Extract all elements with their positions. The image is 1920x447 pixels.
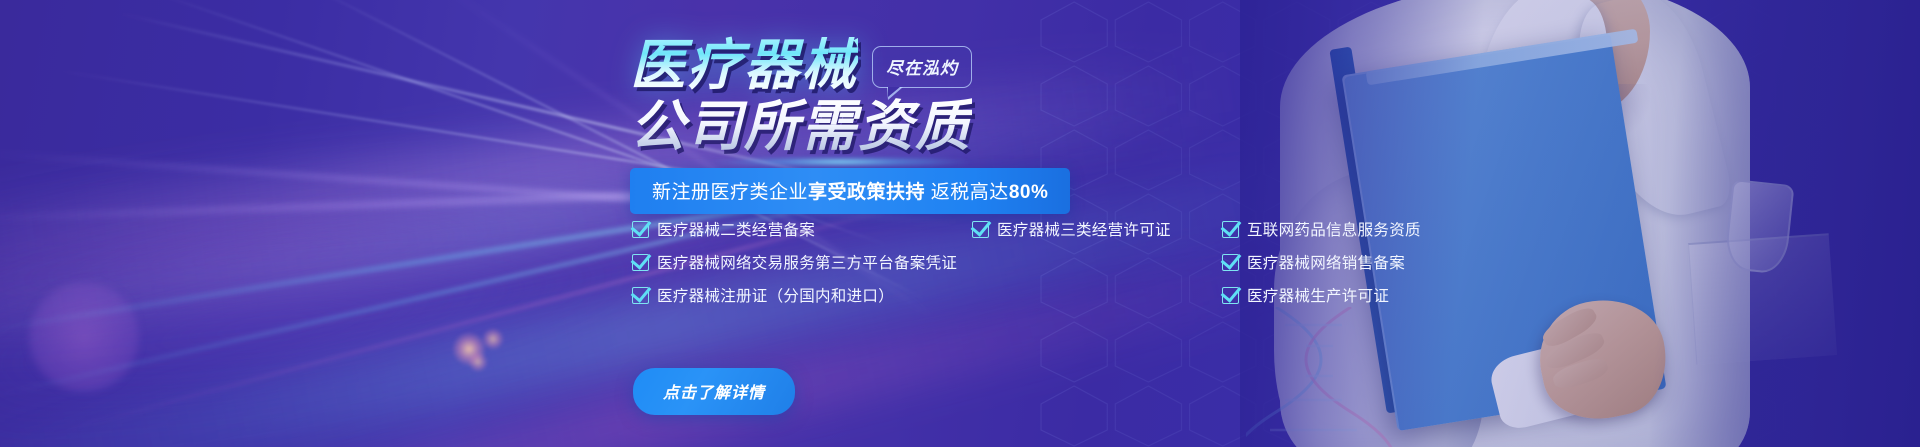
- tagline-part-2: 享受政策扶持: [808, 182, 925, 203]
- checklist-item[interactable]: 医疗器械网络销售备案: [1222, 251, 1405, 273]
- headline-line-2: 公司所需资质: [630, 96, 972, 156]
- checkbox-checked-icon: [1222, 221, 1239, 238]
- checklist-right-col-row1: 互联网药品信息服务资质: [1222, 218, 1421, 240]
- tagline-part-3: 返税高达: [925, 182, 1009, 203]
- checklist-left-col-row1: 医疗器械二类经营备案: [632, 218, 972, 240]
- checklist-row-3: 医疗器械注册证（分国内和进口） 医疗器械生产许可证: [632, 284, 1372, 306]
- checklist-row-2: 医疗器械网络交易服务第三方平台备案凭证 医疗器械网络销售备案: [632, 251, 1372, 273]
- checklist-item-label: 医疗器械注册证（分国内和进口）: [657, 284, 894, 306]
- checklist-item-label: 医疗器械网络交易服务第三方平台备案凭证: [657, 251, 957, 273]
- checklist-right-col-row2: 医疗器械网络销售备案: [1222, 251, 1405, 273]
- checklist-item[interactable]: 医疗器械注册证（分国内和进口）: [632, 284, 1222, 306]
- checkbox-checked-icon: [632, 221, 649, 238]
- learn-more-button[interactable]: 点击了解详情: [633, 368, 795, 415]
- checklist-item-label: 互联网药品信息服务资质: [1247, 218, 1421, 240]
- checklist-left-col-row2: 医疗器械网络交易服务第三方平台备案凭证: [632, 251, 1222, 273]
- checklist-item-label: 医疗器械网络销售备案: [1247, 251, 1405, 273]
- checklist-item-label: 医疗器械生产许可证: [1247, 284, 1389, 306]
- checklist-row-1: 医疗器械二类经营备案 医疗器械三类经营许可证 互联网药品信息服务资质: [632, 218, 1372, 240]
- decorative-dot-2: [482, 328, 504, 350]
- checklist-left-col-row3: 医疗器械注册证（分国内和进口）: [632, 284, 1222, 306]
- headline-line-1: 医疗器械: [630, 36, 858, 94]
- brand-speech-badge: 尽在泓灼: [872, 46, 972, 88]
- banner-content: 医疗器械 尽在泓灼 公司所需资质 新注册医疗类企业享受政策扶持 返税高达80% …: [630, 0, 1390, 447]
- decorative-glow-circle: [29, 282, 139, 392]
- checkbox-checked-icon: [632, 287, 649, 304]
- checkbox-checked-icon: [1222, 254, 1239, 271]
- policy-tagline-bar: 新注册医疗类企业享受政策扶持 返税高达80%: [630, 168, 1070, 214]
- checklist-item[interactable]: 医疗器械三类经营许可证: [972, 218, 1171, 240]
- checklist-item[interactable]: 医疗器械生产许可证: [1222, 284, 1389, 306]
- qualification-checklist: 医疗器械二类经营备案 医疗器械三类经营许可证 互联网药品信息服务资质: [632, 218, 1372, 317]
- checkbox-checked-icon: [1222, 287, 1239, 304]
- headline-underglow: [676, 158, 1006, 166]
- decorative-dot-3: [468, 352, 488, 372]
- checklist-mid-col-row1: 医疗器械三类经营许可证: [972, 218, 1222, 240]
- headline-row: 医疗器械 尽在泓灼: [630, 36, 972, 94]
- tagline-part-1: 新注册医疗类企业: [652, 182, 808, 203]
- checklist-item[interactable]: 医疗器械网络交易服务第三方平台备案凭证: [632, 251, 1222, 273]
- medical-device-promo-banner: 医疗器械 尽在泓灼 公司所需资质 新注册医疗类企业享受政策扶持 返税高达80% …: [0, 0, 1920, 447]
- checkbox-checked-icon: [972, 221, 989, 238]
- checklist-right-col-row3: 医疗器械生产许可证: [1222, 284, 1389, 306]
- checklist-item[interactable]: 互联网药品信息服务资质: [1222, 218, 1421, 240]
- checklist-item-label: 医疗器械三类经营许可证: [997, 218, 1171, 240]
- tagline-part-4: 80%: [1009, 182, 1049, 203]
- checklist-item-label: 医疗器械二类经营备案: [657, 218, 815, 240]
- checklist-item[interactable]: 医疗器械二类经营备案: [632, 218, 815, 240]
- checkbox-checked-icon: [632, 254, 649, 271]
